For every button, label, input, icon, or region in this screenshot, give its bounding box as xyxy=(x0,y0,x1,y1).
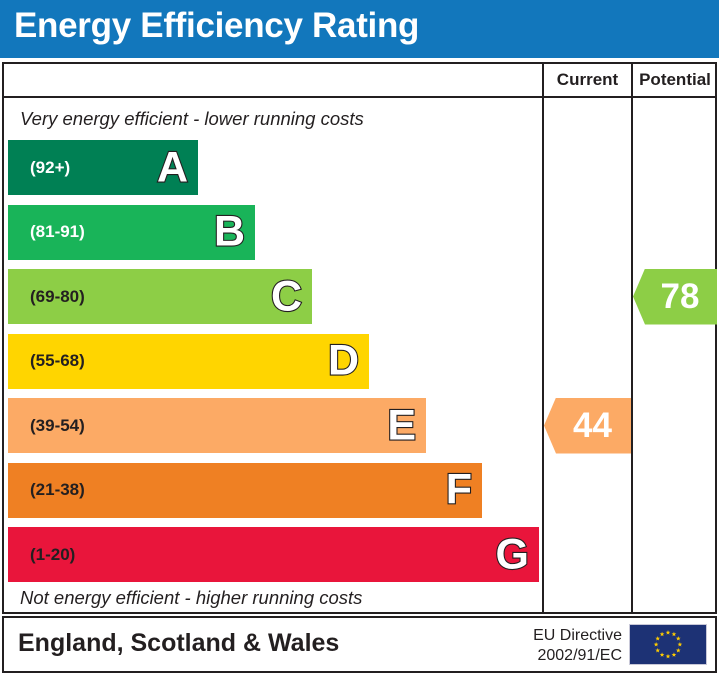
rating-band-d: (55-68)D xyxy=(8,334,369,389)
band-letter-c: C xyxy=(271,275,302,318)
rating-band-g: (1-20)G xyxy=(8,527,539,582)
chart-header-bar: Energy Efficiency Rating xyxy=(0,0,719,58)
column-divider-left xyxy=(542,64,544,612)
footer-directive-line2: 2002/91/EC xyxy=(533,646,622,666)
band-range-label: (1-20) xyxy=(30,545,75,565)
band-letter-d: D xyxy=(328,340,359,383)
footer-directive-line1: EU Directive xyxy=(533,626,622,646)
band-range-label: (21-38) xyxy=(30,480,85,500)
band-letter-e: E xyxy=(387,404,416,447)
band-range-label: (39-54) xyxy=(30,416,85,436)
rating-band-e: (39-54)E xyxy=(8,398,426,453)
chart-footer: England, Scotland & Wales EU Directive 2… xyxy=(2,616,717,673)
rating-band-c: (69-80)C xyxy=(8,269,312,324)
column-header-row: Current Potential xyxy=(4,64,715,98)
band-range-label: (81-91) xyxy=(30,222,85,242)
column-header-potential: Potential xyxy=(633,70,717,90)
band-letter-b: B xyxy=(214,211,245,254)
rating-marker-current: 44 xyxy=(544,398,631,454)
band-range-label: (55-68) xyxy=(30,351,85,371)
band-letter-g: G xyxy=(496,533,529,576)
band-letter-f: F xyxy=(446,469,472,512)
footer-directive-text: EU Directive 2002/91/EC xyxy=(533,626,622,666)
column-header-current: Current xyxy=(544,70,631,90)
rating-value-potential: 78 xyxy=(651,279,700,314)
energy-efficiency-rating-chart: Energy Efficiency Rating Current Potenti… xyxy=(0,0,719,675)
page-title: Energy Efficiency Rating xyxy=(14,6,419,46)
caption-very-efficient: Very energy efficient - lower running co… xyxy=(20,108,364,130)
rating-band-a: (92+)A xyxy=(8,140,198,195)
caption-not-efficient: Not energy efficient - higher running co… xyxy=(20,587,362,609)
band-range-label: (92+) xyxy=(30,158,70,178)
rating-value-current: 44 xyxy=(563,408,612,443)
eu-flag-icon xyxy=(629,624,707,665)
band-letter-a: A xyxy=(157,146,188,189)
band-range-label: (69-80) xyxy=(30,287,85,307)
column-divider-right xyxy=(631,64,633,612)
rating-table: Current Potential Very energy efficient … xyxy=(2,62,717,614)
rating-marker-potential: 78 xyxy=(633,269,717,325)
rating-band-f: (21-38)F xyxy=(8,463,482,518)
footer-region-label: England, Scotland & Wales xyxy=(18,629,339,658)
rating-band-b: (81-91)B xyxy=(8,205,255,260)
